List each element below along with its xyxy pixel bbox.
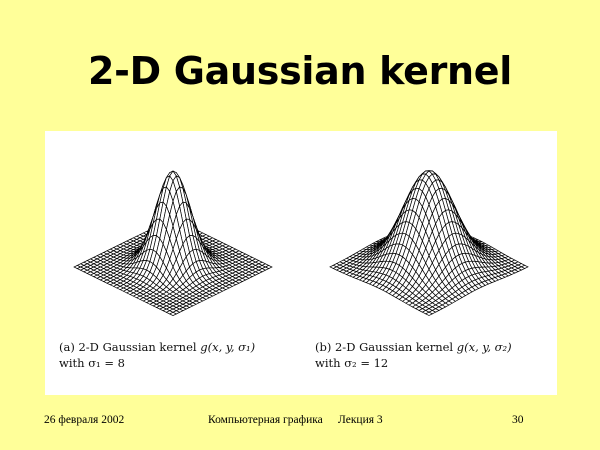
- gaussian-surface-plot-b: [301, 135, 557, 335]
- page-title: 2-D Gaussian kernel: [0, 48, 600, 94]
- surface-mesh-svg: [301, 135, 557, 335]
- figure-caption-a-function: g: [200, 340, 207, 354]
- figure-caption-b-function: g: [457, 340, 464, 354]
- surface-mesh-svg: [45, 135, 301, 335]
- figure-caption-a-line2: with σ₁ = 8: [59, 355, 299, 371]
- figure-caption-b-line1: (b) 2-D Gaussian kernel: [315, 340, 457, 354]
- figure-caption-a: (a) 2-D Gaussian kernel g(x, y, σ₁) with…: [59, 339, 299, 371]
- figure-caption-b: (b) 2-D Gaussian kernel g(x, y, σ₂) with…: [315, 339, 555, 371]
- footer-date: 26 февраля 2002: [44, 414, 124, 426]
- gaussian-surface-plot-a: [45, 135, 301, 335]
- figure-subpanel-a: (a) 2-D Gaussian kernel g(x, y, σ₁) with…: [45, 131, 301, 395]
- slide-footer: 26 февраля 2002 Компьютерная графика Лек…: [0, 410, 600, 434]
- presentation-slide: 2-D Gaussian kernel (a) 2-D Gaussian ker…: [0, 0, 600, 450]
- figure-caption-a-line1: (a) 2-D Gaussian kernel: [59, 340, 200, 354]
- footer-course-name: Компьютерная графика: [208, 414, 323, 426]
- figure-subpanel-b: (b) 2-D Gaussian kernel g(x, y, σ₂) with…: [301, 131, 557, 395]
- figure-caption-b-line2: with σ₂ = 12: [315, 355, 555, 371]
- footer-lecture-number: Лекция 3: [338, 414, 383, 426]
- figure-caption-b-args: (x, y, σ₂): [464, 340, 512, 354]
- footer-page-number: 30: [512, 414, 524, 426]
- figure-panel: (a) 2-D Gaussian kernel g(x, y, σ₁) with…: [45, 131, 557, 395]
- figure-caption-a-args: (x, y, σ₁): [208, 340, 256, 354]
